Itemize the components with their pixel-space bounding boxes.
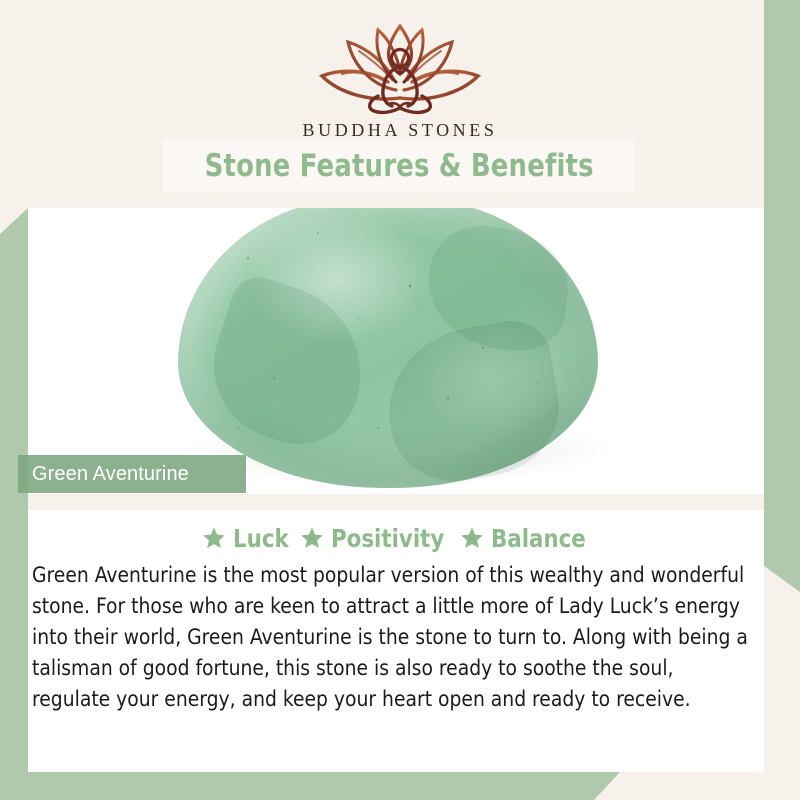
divider [28,494,764,510]
stone-specks [178,208,598,488]
keyword-label: Positivity [331,524,444,553]
frame-left-bar [0,208,28,800]
stone-name-label: Green Aventurine [18,463,189,486]
status-badge: Green Aventurine [18,455,246,493]
star-icon [300,526,324,550]
infographic-page: BUDDHA STONES Stone Features & Benefits … [0,0,800,800]
keyword-item-balance: Balance [460,524,591,553]
stone-shape [178,208,598,488]
title-banner: Stone Features & Benefits [163,139,635,193]
keyword-item-luck: Luck [202,524,292,553]
lotus-meditation-icon [312,18,488,116]
star-icon [202,526,226,550]
brand-logo: BUDDHA STONES [0,18,800,141]
keyword-label: Balance [491,524,586,553]
keyword-row: Luck Positivity Balance [28,518,764,558]
stone-photo [28,208,764,494]
keyword-label: Luck [233,524,289,553]
star-icon [460,526,484,550]
stone-description: Green Aventurine is the most popular ver… [32,560,750,715]
frame-bottom-bar [0,772,620,800]
brand-name: BUDDHA STONES [0,120,800,141]
page-title: Stone Features & Benefits [204,148,593,184]
keyword-item-positivity: Positivity [300,524,450,553]
